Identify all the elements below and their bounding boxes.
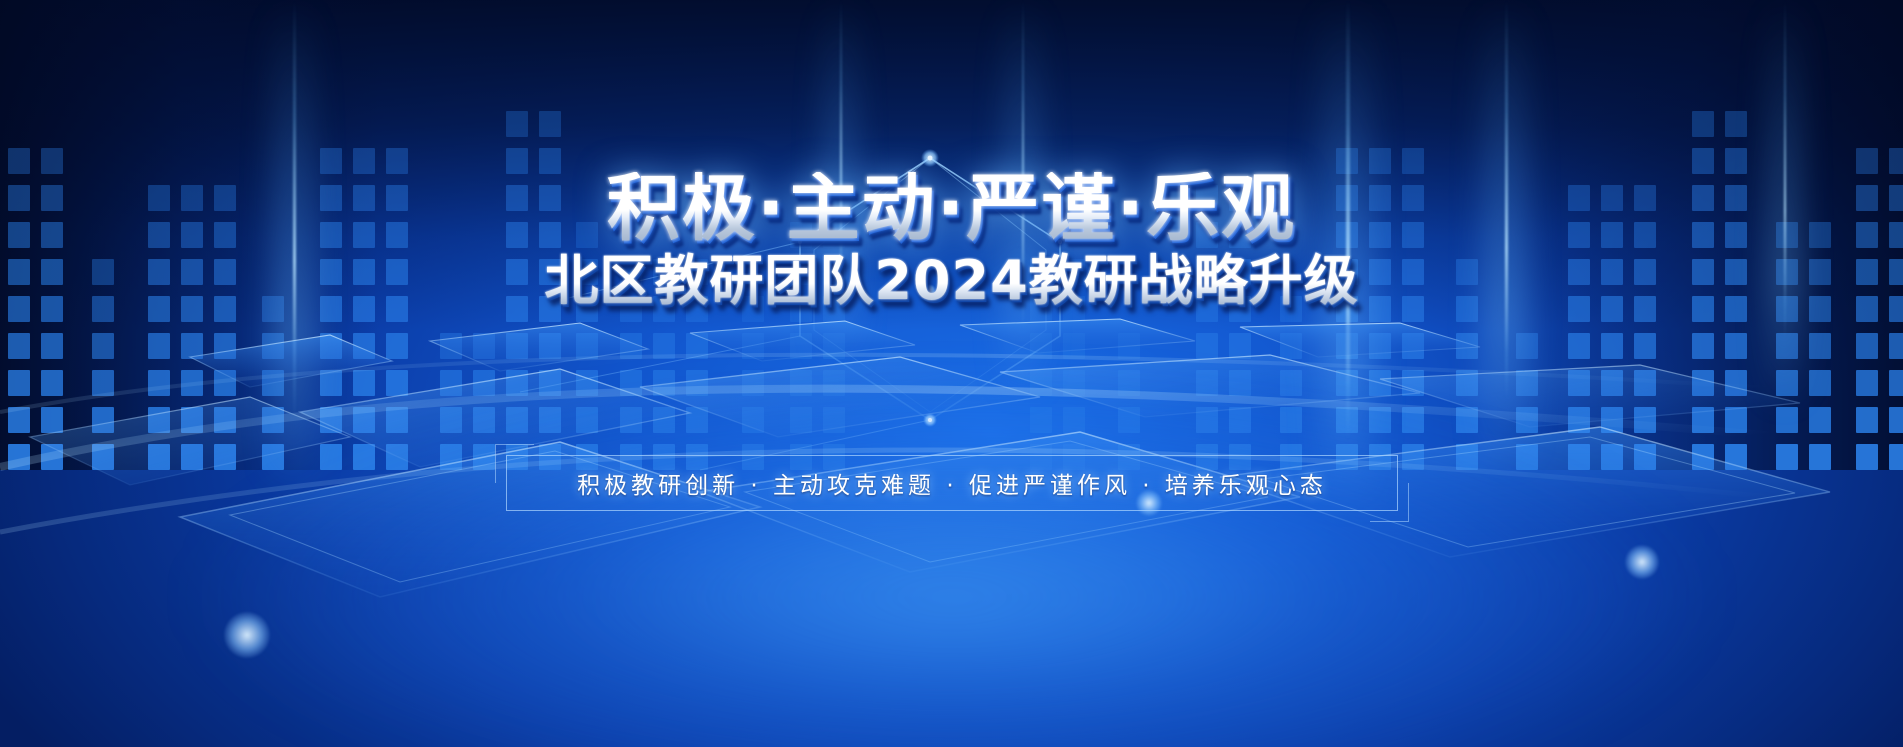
skyline-window	[320, 296, 342, 322]
skyline-window	[1456, 296, 1478, 322]
skyline-window	[1692, 222, 1714, 248]
skyline-window	[440, 333, 462, 359]
skyline-tower-row	[262, 407, 284, 433]
skyline-tower-row	[262, 444, 284, 470]
skyline-tower-row	[1456, 407, 1478, 433]
skyline-window	[1889, 333, 1903, 359]
skyline-window	[1229, 259, 1251, 285]
accent-dot-2	[224, 612, 270, 658]
skyline-tower-row	[1568, 185, 1656, 211]
skyline-window	[506, 111, 528, 137]
skyline-tower-row	[320, 222, 408, 248]
skyline-window	[506, 370, 528, 396]
skyline-window	[1634, 259, 1656, 285]
skyline-tower-row	[440, 333, 495, 359]
skyline-tower-row	[1336, 333, 1424, 359]
skyline-tower	[742, 296, 764, 470]
skyline-window	[1568, 259, 1590, 285]
skyline-tower-row	[1856, 259, 1903, 285]
skyline-tower-row	[576, 370, 598, 396]
skyline-tower-row	[1456, 370, 1478, 396]
skyline-window	[1725, 259, 1747, 285]
skyline-window	[686, 407, 708, 433]
skyline-tower-row	[1856, 333, 1903, 359]
skyline-tower-row	[742, 370, 764, 396]
skyline-window	[1809, 259, 1831, 285]
skyline-tower-row	[1568, 333, 1656, 359]
skyline-window	[92, 407, 114, 433]
skyline-window	[1856, 148, 1878, 174]
skyline-window	[539, 148, 561, 174]
skyline-window	[1063, 259, 1085, 285]
skyline-window	[1456, 333, 1478, 359]
skyline-tower	[506, 111, 561, 470]
skyline-tower-row	[1568, 222, 1656, 248]
skyline-window	[790, 333, 812, 359]
skyline-window	[41, 407, 63, 433]
skyline-window	[1856, 259, 1878, 285]
skyline-window	[1196, 259, 1218, 285]
skyline-window	[214, 222, 236, 248]
skyline-tower	[576, 222, 598, 470]
skyline-window	[742, 407, 764, 433]
skyline-window	[353, 259, 375, 285]
skyline-tower	[262, 296, 284, 470]
skyline-tower-row	[148, 407, 236, 433]
skyline-tower-row	[320, 370, 408, 396]
skyline-window	[386, 333, 408, 359]
skyline-tower-row	[790, 222, 845, 248]
skyline-window	[1856, 370, 1878, 396]
promo-banner: 积极·主动·严谨·乐观 北区教研团队2024教研战略升级 积极教研创新 · 主动…	[0, 0, 1903, 747]
skyline-window	[440, 407, 462, 433]
skyline-window	[41, 148, 63, 174]
skyline-window	[386, 148, 408, 174]
skyline-tower-row	[1118, 370, 1140, 396]
skyline-tower-row	[1280, 407, 1302, 433]
skyline-window	[1809, 444, 1831, 470]
skyline-tower-row	[790, 333, 845, 359]
skyline-tower	[440, 333, 495, 470]
skyline-window	[539, 185, 561, 211]
skyline-window	[1336, 407, 1358, 433]
skyline-window	[1692, 259, 1714, 285]
skyline-window	[1568, 407, 1590, 433]
skyline-window	[181, 259, 203, 285]
skyline-window	[1280, 333, 1302, 359]
skyline-window	[8, 333, 30, 359]
skyline-tower-row	[148, 370, 236, 396]
skyline-window	[386, 407, 408, 433]
skyline-tower-row	[1280, 333, 1302, 359]
skyline-window	[1776, 407, 1798, 433]
skyline-window	[1196, 185, 1218, 211]
skyline-window	[1196, 370, 1218, 396]
skyline-window	[1336, 296, 1358, 322]
skyline-window	[41, 444, 63, 470]
skyline-tower-row	[320, 444, 408, 470]
skyline-window	[1889, 222, 1903, 248]
skyline-tower-row	[1692, 370, 1747, 396]
skyline-tower-row	[1196, 296, 1251, 322]
skyline-tower-row	[92, 407, 114, 433]
skyline-window	[1336, 259, 1358, 285]
skyline-window	[686, 370, 708, 396]
skyline-window	[790, 222, 812, 248]
skyline-window	[92, 333, 114, 359]
skyline-window	[1568, 333, 1590, 359]
skyline-window	[1568, 222, 1590, 248]
skyline-window	[823, 370, 845, 396]
skyline-window	[1336, 370, 1358, 396]
skyline-window	[181, 185, 203, 211]
skyline-tower-row	[1692, 407, 1747, 433]
skyline-window	[8, 222, 30, 248]
skyline-tower-row	[1336, 259, 1424, 285]
skyline-window	[1402, 407, 1424, 433]
skyline-window	[1809, 222, 1831, 248]
skyline-window	[320, 148, 342, 174]
skyline-tower	[1568, 185, 1656, 470]
skyline-window	[790, 407, 812, 433]
skyline-window	[41, 370, 63, 396]
skyline-window	[1229, 370, 1251, 396]
skyline-window	[506, 185, 528, 211]
skyline-tower-row	[576, 333, 598, 359]
skyline-window	[1516, 370, 1538, 396]
skyline-tower-row	[1856, 444, 1903, 470]
skyline-window	[686, 296, 708, 322]
skyline-window	[1634, 185, 1656, 211]
skyline-tower-row	[1030, 407, 1085, 433]
skyline-window	[539, 407, 561, 433]
skyline-window	[620, 333, 642, 359]
skyline-window	[1601, 370, 1623, 396]
skyline-window	[1196, 296, 1218, 322]
skyline-tower-row	[1776, 222, 1831, 248]
skyline-tower-row	[1856, 407, 1903, 433]
skyline-window	[1063, 333, 1085, 359]
skyline-window	[1402, 185, 1424, 211]
skyline-window	[1369, 333, 1391, 359]
skyline-tower-row	[262, 333, 284, 359]
skyline-tower-row	[320, 333, 408, 359]
skyline-tower-row	[320, 407, 408, 433]
skyline-tower-row	[1692, 333, 1747, 359]
skyline-window	[653, 407, 675, 433]
skyline-window	[1725, 444, 1747, 470]
accent-dot-3	[1625, 545, 1659, 579]
skyline-window	[1229, 296, 1251, 322]
skyline-tower-row	[1196, 185, 1251, 211]
skyline-window	[386, 259, 408, 285]
skyline-window	[320, 444, 342, 470]
skyline-tower-row	[8, 148, 63, 174]
skyline-window	[1402, 370, 1424, 396]
skyline-window	[1856, 407, 1878, 433]
skyline-tower-row	[1336, 185, 1424, 211]
skyline-window	[539, 259, 561, 285]
skyline-tower	[790, 222, 845, 470]
skyline-tower-row	[8, 333, 63, 359]
skyline-window	[262, 296, 284, 322]
skyline-window	[8, 370, 30, 396]
skyline-tower-row	[92, 370, 114, 396]
skyline-window	[506, 222, 528, 248]
skyline-window	[148, 185, 170, 211]
skyline-window	[576, 296, 598, 322]
skyline-window	[262, 370, 284, 396]
skyline-window	[1118, 407, 1140, 433]
skyline-window	[1369, 407, 1391, 433]
skyline-tower-row	[1030, 333, 1085, 359]
skyline-tower-row	[1692, 296, 1747, 322]
skyline-tower-row	[1692, 148, 1747, 174]
skyline-window	[539, 296, 561, 322]
skyline-tower-row	[1336, 370, 1424, 396]
skyline-tower-row	[790, 407, 845, 433]
skyline-window	[1889, 185, 1903, 211]
skyline-tower-row	[1692, 259, 1747, 285]
skyline-window	[1516, 407, 1538, 433]
skyline-tower-row	[742, 296, 764, 322]
skyline-window	[742, 296, 764, 322]
skyline-window	[473, 444, 495, 470]
skyline-window	[1336, 222, 1358, 248]
skyline-window	[1809, 333, 1831, 359]
skyline-window	[1634, 370, 1656, 396]
skyline-tower-row	[92, 333, 114, 359]
skyline-window	[539, 222, 561, 248]
skyline-tower-row	[1030, 296, 1085, 322]
skyline-window	[1402, 444, 1424, 470]
skyline-window	[620, 259, 642, 285]
skyline-window	[1336, 148, 1358, 174]
skyline-tower	[620, 259, 708, 470]
skyline-window	[1725, 407, 1747, 433]
skyline-window	[1402, 148, 1424, 174]
skyline-window	[320, 370, 342, 396]
skyline-window	[576, 407, 598, 433]
skyline-window	[1692, 333, 1714, 359]
skyline-tower-row	[1568, 444, 1656, 470]
skyline-window	[181, 370, 203, 396]
skyline-tower-row	[440, 407, 495, 433]
skyline-window	[353, 296, 375, 322]
skyline-window	[823, 296, 845, 322]
skyline-window	[1601, 222, 1623, 248]
skyline-tower-row	[92, 444, 114, 470]
skyline-window	[1601, 407, 1623, 433]
skyline-window	[1280, 407, 1302, 433]
skyline-window	[1516, 333, 1538, 359]
skyline-tower-row	[1692, 111, 1747, 137]
skyline-window	[1030, 370, 1052, 396]
skyline-tower-row	[148, 222, 236, 248]
skyline-window	[214, 444, 236, 470]
skyline-window	[181, 222, 203, 248]
skyline-window	[1030, 407, 1052, 433]
skyline-tower	[92, 259, 114, 470]
skyline-window	[41, 185, 63, 211]
skyline-window	[92, 296, 114, 322]
skyline-window	[353, 148, 375, 174]
skyline-window	[214, 185, 236, 211]
skyline-window	[1336, 333, 1358, 359]
skyline-tower-row	[1456, 444, 1478, 470]
skyline-tower-row	[1568, 407, 1656, 433]
skyline-window	[823, 259, 845, 285]
skyline-window	[473, 333, 495, 359]
skyline-tower-row	[1776, 370, 1831, 396]
skyline-window	[214, 296, 236, 322]
skyline-window	[262, 407, 284, 433]
skyline-tower-row	[92, 259, 114, 285]
skyline-tower-row	[1456, 333, 1478, 359]
skyline-tower-row	[506, 407, 561, 433]
skyline-window	[620, 407, 642, 433]
skyline-window	[1568, 185, 1590, 211]
skyline-window	[1634, 296, 1656, 322]
skyline-tower-row	[320, 185, 408, 211]
skyline-tower-row	[1196, 222, 1251, 248]
skyline-window	[320, 185, 342, 211]
skyline-window	[1369, 370, 1391, 396]
skyline-window	[1692, 185, 1714, 211]
skyline-window	[539, 111, 561, 137]
skyline-tower-row	[1692, 222, 1747, 248]
skyline-window	[1369, 148, 1391, 174]
skyline-window	[823, 407, 845, 433]
skyline-tower	[1692, 111, 1747, 470]
skyline-tower-row	[1336, 407, 1424, 433]
skyline-window	[262, 333, 284, 359]
skyline-tower	[1118, 333, 1140, 470]
skyline-window	[1889, 148, 1903, 174]
skyline-window	[214, 333, 236, 359]
skyline-window	[1776, 259, 1798, 285]
skyline-tower	[1336, 148, 1424, 470]
skyline-tower-row	[148, 444, 236, 470]
skyline-window	[1229, 407, 1251, 433]
skyline-window	[1063, 407, 1085, 433]
skyline-window	[440, 370, 462, 396]
skyline-tower-row	[8, 185, 63, 211]
skyline-window	[1776, 222, 1798, 248]
skyline-window	[41, 259, 63, 285]
skyline-tower-row	[440, 444, 495, 470]
skyline-window	[353, 370, 375, 396]
skyline-window	[1402, 259, 1424, 285]
skyline-tower-row	[8, 222, 63, 248]
skyline-tower-row	[1118, 333, 1140, 359]
skyline-tower-row	[1196, 333, 1251, 359]
city-skyline-background	[0, 0, 1903, 470]
skyline-window	[1601, 333, 1623, 359]
skyline-window	[1725, 333, 1747, 359]
skyline-window	[181, 296, 203, 322]
skyline-window	[386, 222, 408, 248]
skyline-tower-row	[320, 259, 408, 285]
skyline-tower-row	[742, 407, 764, 433]
skyline-window	[1456, 444, 1478, 470]
skyline-window	[148, 370, 170, 396]
skyline-window	[1692, 370, 1714, 396]
skyline-tower-row	[1776, 407, 1831, 433]
skyline-tower-row	[1568, 370, 1656, 396]
skyline-window	[353, 407, 375, 433]
skyline-window	[1889, 370, 1903, 396]
skyline-window	[1776, 296, 1798, 322]
skyline-tower-row	[1692, 444, 1747, 470]
skyline-window	[576, 259, 598, 285]
skyline-tower-row	[148, 259, 236, 285]
skyline-window	[1889, 407, 1903, 433]
skyline-window	[1856, 296, 1878, 322]
skyline-window	[8, 148, 30, 174]
skyline-tower-row	[1030, 370, 1085, 396]
skyline-tower-row	[506, 148, 561, 174]
skyline-window	[1889, 296, 1903, 322]
skyline-tower-row	[148, 296, 236, 322]
skyline-window	[1856, 333, 1878, 359]
skyline-window	[1196, 222, 1218, 248]
skyline-window	[1568, 370, 1590, 396]
skyline-tower-row	[440, 370, 495, 396]
skyline-window	[320, 333, 342, 359]
skyline-tower-row	[1776, 333, 1831, 359]
skyline-tower-row	[620, 407, 708, 433]
skyline-window	[1634, 407, 1656, 433]
skyline-tower-row	[1516, 370, 1538, 396]
skyline-tower-row	[1568, 259, 1656, 285]
skyline-window	[1856, 222, 1878, 248]
skyline-tower-row	[1776, 259, 1831, 285]
skyline-tower-row	[1336, 148, 1424, 174]
skyline-tower-row	[790, 296, 845, 322]
skyline-window	[181, 444, 203, 470]
skyline-window	[1809, 407, 1831, 433]
skyline-tower	[1456, 259, 1478, 470]
skyline-window	[1118, 333, 1140, 359]
skyline-window	[473, 370, 495, 396]
skyline-window	[1402, 222, 1424, 248]
skyline-tower-row	[1856, 222, 1903, 248]
skyline-tower-row	[790, 370, 845, 396]
skyline-tower-row	[506, 222, 561, 248]
skyline-tower	[1516, 333, 1538, 470]
skyline-window	[576, 333, 598, 359]
skyline-window	[1063, 296, 1085, 322]
skyline-tower-row	[1280, 296, 1302, 322]
skyline-tower-row	[1456, 259, 1478, 285]
skyline-tower-row	[1118, 407, 1140, 433]
skyline-window	[148, 333, 170, 359]
skyline-tower-row	[1776, 296, 1831, 322]
skyline-window	[653, 370, 675, 396]
skyline-window	[576, 222, 598, 248]
skyline-window	[1196, 407, 1218, 433]
skyline-tower-row	[506, 333, 561, 359]
skyline-window	[506, 148, 528, 174]
skyline-tower-row	[620, 333, 708, 359]
skyline-window	[1725, 111, 1747, 137]
skyline-tower-row	[1856, 296, 1903, 322]
skyline-window	[1634, 222, 1656, 248]
skyline-tower-row	[1196, 370, 1251, 396]
skyline-window	[320, 259, 342, 285]
skyline-window	[1601, 185, 1623, 211]
